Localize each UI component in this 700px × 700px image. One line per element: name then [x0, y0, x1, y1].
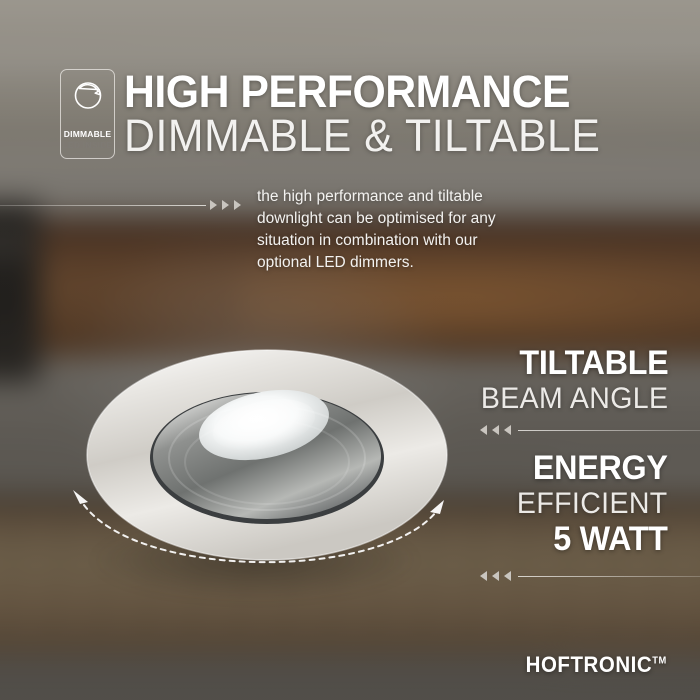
- triple-left-arrow-icon: [504, 425, 511, 435]
- divider-line: [518, 430, 700, 431]
- triple-right-arrow-icon: [210, 200, 217, 210]
- triple-left-arrow-icon: [504, 571, 511, 581]
- tiltable-led-downlight-image: [60, 330, 480, 590]
- divider-line: [0, 205, 206, 206]
- badge-line-2: LED INSIDE: [61, 140, 114, 150]
- headline-primary: HIGH PERFORMANCE: [124, 68, 570, 116]
- feature-tiltable-title: TILTABLE: [480, 345, 668, 382]
- feature-energy-wattage: 5 WATT: [517, 521, 668, 558]
- badge-line-1: DIMMABLE: [61, 129, 114, 139]
- feature-energy-title: ENERGY: [517, 450, 668, 487]
- feature-energy-subtitle: EFFICIENT: [517, 487, 668, 521]
- intro-paragraph: the high performance and tiltable downli…: [257, 186, 529, 274]
- promo-banner: DIMMABLE LED INSIDE HIGH PERFORMANCE DIM…: [0, 0, 700, 700]
- triple-left-arrow-icon: [492, 571, 499, 581]
- brand-name: HOFTRONIC: [526, 652, 653, 677]
- triple-right-arrow-icon: [222, 200, 229, 210]
- triple-left-arrow-icon: [480, 425, 487, 435]
- triple-left-arrow-icon: [492, 425, 499, 435]
- headline-secondary: DIMMABLE & TILTABLE: [124, 112, 600, 160]
- dimmable-led-badge: DIMMABLE LED INSIDE: [60, 69, 115, 159]
- brand-logo: HOFTRONICTM: [526, 652, 667, 678]
- triple-right-arrow-icon: [234, 200, 241, 210]
- triple-left-arrow-icon: [480, 571, 487, 581]
- intro-divider: [0, 199, 246, 213]
- feature-tiltable-subtitle: BEAM ANGLE: [480, 382, 668, 416]
- feature-energy-divider: [480, 570, 700, 584]
- feature-tiltable: TILTABLE BEAM ANGLE: [471, 345, 668, 416]
- feature-tiltable-divider: [480, 424, 700, 438]
- dimmer-ring-icon: [71, 77, 105, 111]
- divider-line: [518, 576, 700, 577]
- feature-energy: ENERGY EFFICIENT 5 WATT: [509, 450, 668, 558]
- trademark-symbol: TM: [652, 656, 667, 667]
